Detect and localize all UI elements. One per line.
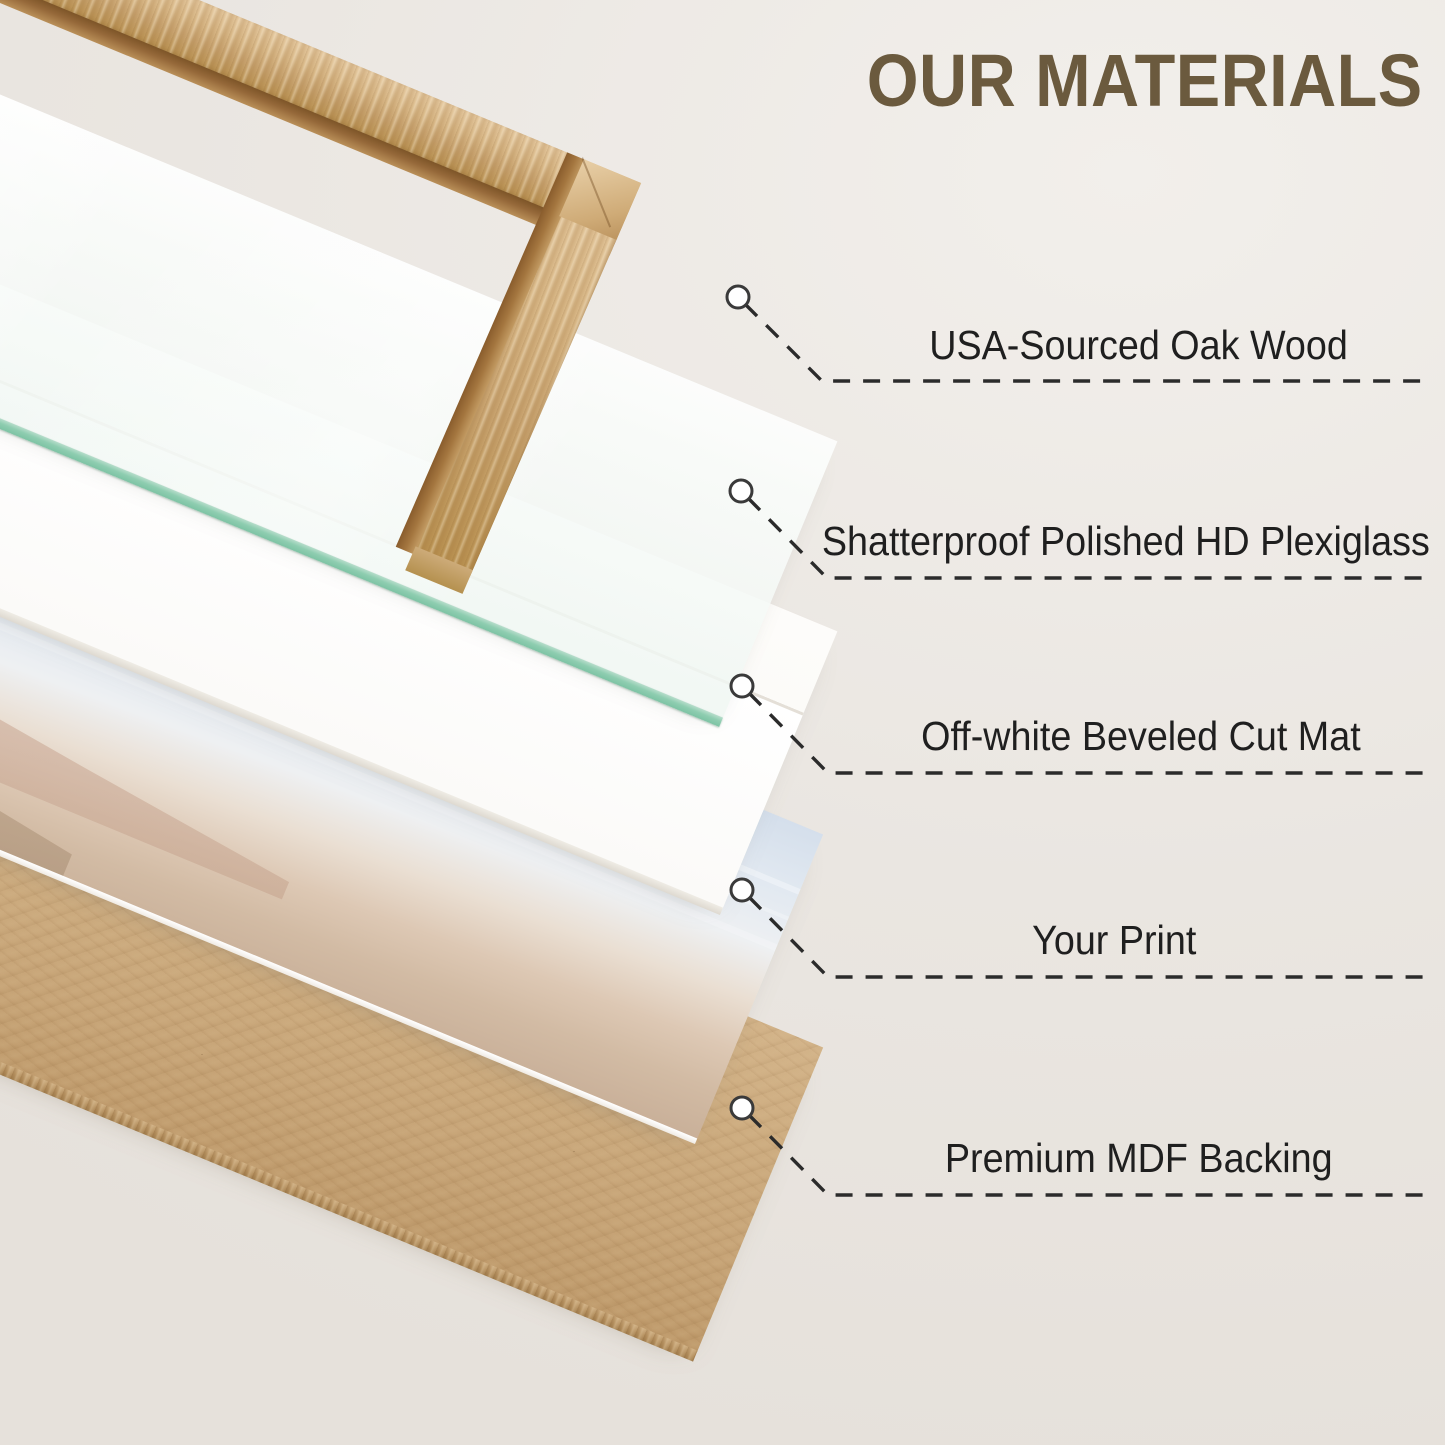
callout-label-print: Your Print <box>1032 920 1196 961</box>
callout-label-oak-wood: USA-Sourced Oak Wood <box>929 325 1348 366</box>
materials-infographic: OUR MATERIALS USA-Sourced Oak Wood Shatt… <box>0 0 1445 1445</box>
page-title: OUR MATERIALS <box>867 44 1423 118</box>
callout-label-plexiglass: Shatterproof Polished HD Plexiglass <box>822 521 1430 562</box>
exploded-frame-illustration <box>0 0 900 1445</box>
callout-label-mat: Off-white Beveled Cut Mat <box>921 716 1361 757</box>
callout-label-mdf: Premium MDF Backing <box>945 1138 1333 1179</box>
